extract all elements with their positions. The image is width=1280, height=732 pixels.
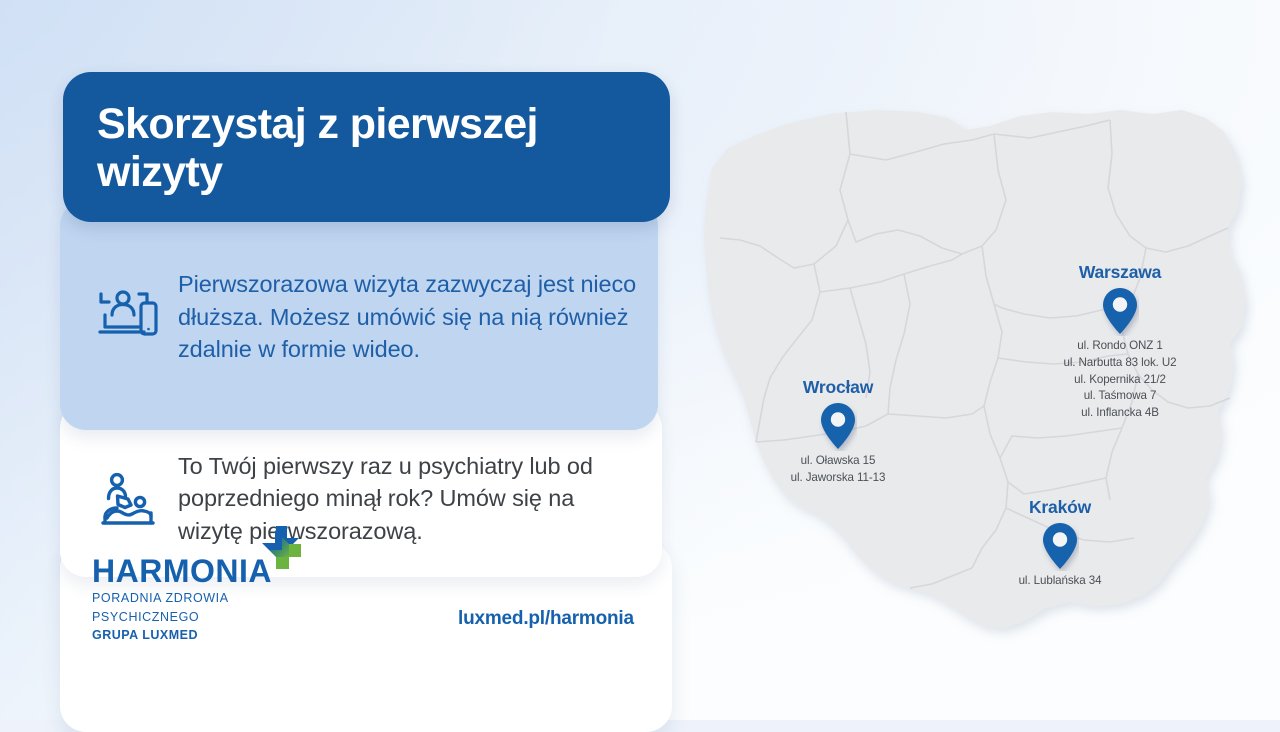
logo-subtitle-line-3: GRUPA LUXMED xyxy=(92,627,272,643)
video-consultation-icon xyxy=(78,285,178,345)
city-label-warszawa: Warszawa xyxy=(1000,262,1240,283)
city-addresses-warszawa: ul. Rondo ONZ 1 ul. Narbutta 83 lok. U2 … xyxy=(1000,338,1240,422)
map-pin-warszawa[interactable] xyxy=(1000,286,1240,336)
card-block-1-text: Pierwszorazowa wizyta zazwyczaj jest nie… xyxy=(178,268,658,365)
logo-subtitle-line-1: PORADNIA ZDROWIA xyxy=(92,590,272,606)
therapy-couch-icon xyxy=(78,466,178,532)
address-line: ul. Oławska 15 xyxy=(738,453,938,470)
city-label-wroclaw: Wrocław xyxy=(738,377,938,398)
harmonia-logo: HARMONIA PORADNIA ZDROWIA PSYCHICZNEGO G… xyxy=(92,555,272,643)
map-city-wroclaw[interactable]: Wrocław ul. Oławska 15 ul. Jaworska 11-1… xyxy=(738,377,938,487)
page-title: Skorzystaj z pierwszej wizyty xyxy=(63,72,670,196)
map-city-warszawa[interactable]: Warszawa ul. Rondo ONZ 1 ul. Narbutta 83… xyxy=(1000,262,1240,422)
map-city-krakow[interactable]: Kraków ul. Lublańska 34 xyxy=(960,497,1160,590)
map-pin-krakow[interactable] xyxy=(960,521,1160,571)
map-pin-wroclaw[interactable] xyxy=(738,401,938,451)
address-line: ul. Lublańska 34 xyxy=(960,573,1160,590)
address-line: ul. Jaworska 11-13 xyxy=(738,470,938,487)
city-label-krakow: Kraków xyxy=(960,497,1160,518)
website-url[interactable]: luxmed.pl/harmonia xyxy=(458,608,634,630)
harmonia-cross-icon xyxy=(256,524,308,581)
card-header: Skorzystaj z pierwszej wizyty xyxy=(63,72,670,222)
card-block-2-text: To Twój pierwszy raz u psychiatry lub od… xyxy=(178,450,662,547)
address-line: ul. Kopernika 21/2 xyxy=(1000,372,1240,389)
address-line: ul. Taśmowa 7 xyxy=(1000,388,1240,405)
address-line: ul. Inflancka 4B xyxy=(1000,405,1240,422)
city-addresses-wroclaw: ul. Oławska 15 ul. Jaworska 11-13 xyxy=(738,453,938,487)
card-info-block-1: Pierwszorazowa wizyta zazwyczaj jest nie… xyxy=(60,200,658,430)
address-line: ul. Rondo ONZ 1 xyxy=(1000,338,1240,355)
address-line: ul. Narbutta 83 lok. U2 xyxy=(1000,355,1240,372)
city-addresses-krakow: ul. Lublańska 34 xyxy=(960,573,1160,590)
logo-subtitle-line-2: PSYCHICZNEGO xyxy=(92,609,272,625)
logo-wordmark: HARMONIA xyxy=(92,555,272,587)
